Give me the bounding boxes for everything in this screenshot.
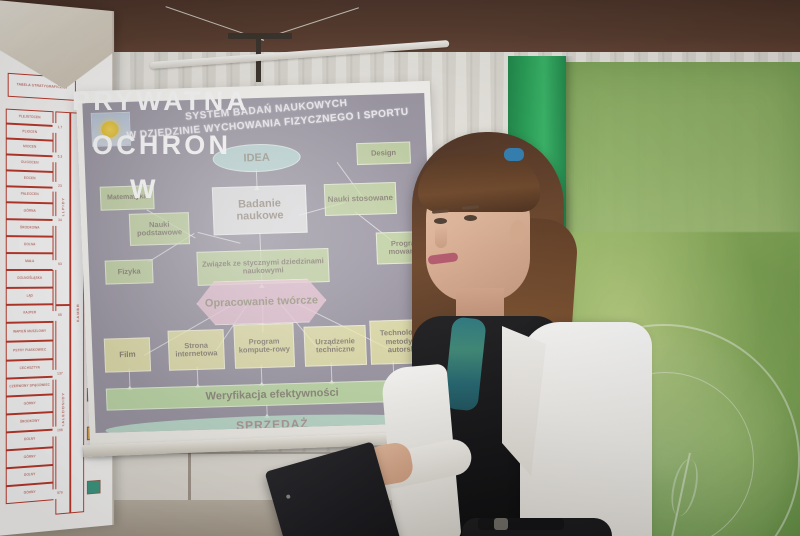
poster-row: MIOCEN (6, 138, 54, 156)
node-film: Film (104, 337, 151, 372)
poster-scale-value: 65 (53, 311, 68, 321)
node-opracowanie-tworcze: Opracowanie twórcze (196, 278, 328, 326)
poster-row: GÓRNY (6, 483, 54, 505)
banner-line-3: W (130, 174, 308, 204)
poster-row: ŚRODKOWA (6, 219, 54, 236)
poster-scale-value: 195 (53, 426, 68, 437)
poster-era-column: ALLPIDY (55, 111, 70, 305)
poster-swatch (87, 480, 101, 495)
node-fizyka: Fizyka (105, 259, 154, 284)
eye-right (464, 215, 477, 221)
hair-tie (504, 148, 524, 161)
nose (435, 226, 447, 248)
eye-left (434, 218, 447, 224)
poster-scale-value: 570 (53, 488, 68, 499)
presenter (352, 126, 652, 536)
poster-scale-value: 23 (53, 182, 68, 192)
poster-row: MAŁA (6, 253, 54, 270)
poster-row: WAPIEŃ MUSZLOWY (6, 322, 54, 342)
poster-row: DOLNA (6, 236, 54, 253)
hair-fringe (418, 156, 540, 212)
poster-scale-value: 1,7 (53, 123, 68, 134)
poster-scale-value: 53 (53, 260, 68, 270)
poster-scale-value: 34 (53, 216, 68, 226)
poster-row: PALEOCEN (6, 186, 54, 203)
ear (510, 220, 526, 244)
poster-row: KAJPER (6, 304, 54, 323)
photo-scene: ALLPIDY KALEDONIDY KAMBR PLEJSTOCEN PLIO… (0, 0, 800, 536)
poster-row: OLIGOCEN (6, 154, 54, 172)
node-nauki-podstawowe: Nauki podstawowe (129, 212, 190, 246)
poster-row: DOLNOŚLĄSKA (6, 270, 54, 288)
poster-row: EOCEN (6, 170, 54, 187)
poster-row: CZERWONY SPĄGOWIEC (6, 377, 54, 397)
node-program-komputerowy: Program kompute-rowy (233, 323, 295, 369)
belt (478, 518, 564, 530)
node-strona-internetowa: Strona internetowa (168, 329, 226, 371)
banner-line-2: OCHRON (92, 130, 308, 160)
poster-row: PSTRY PIASKOWIEC (6, 340, 54, 360)
belt-buckle (494, 518, 508, 530)
poster-era-column: KALEDONIDY (55, 305, 70, 515)
poster-row: LĄD (6, 288, 54, 305)
poster-row: GÓRNA (6, 202, 54, 220)
poster-scale-value: 5,3 (53, 152, 68, 162)
poster-row: CECHSZTYN (6, 359, 54, 379)
banner-line-1: PRYWATNA (72, 86, 308, 116)
banner-text-block: PRYWATNA OCHRON W (72, 86, 308, 204)
poster-scale-value: 137 (53, 369, 68, 379)
